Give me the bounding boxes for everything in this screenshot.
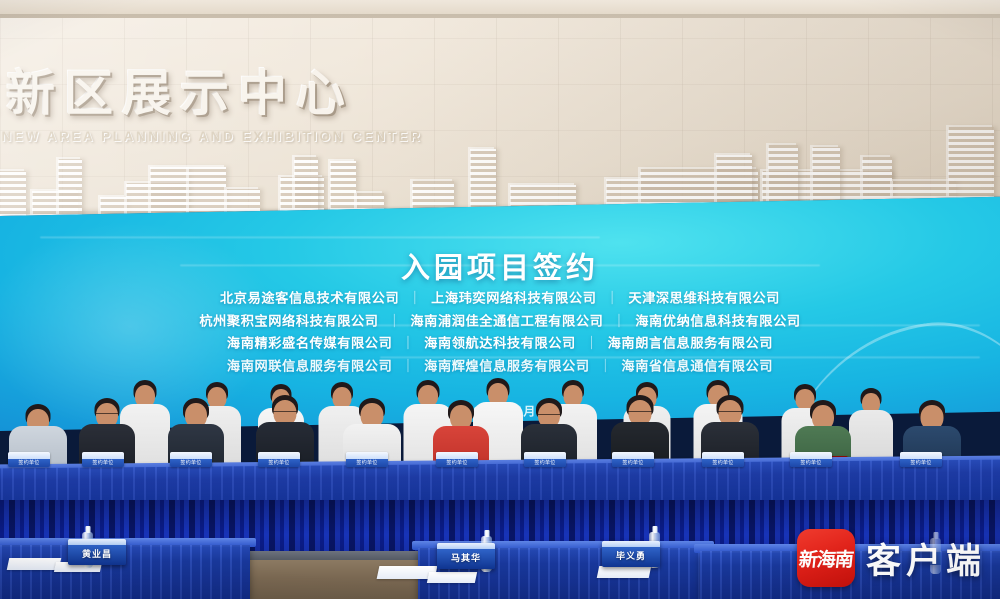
desk-nameplate: 签约单位 xyxy=(8,452,50,467)
document-paper xyxy=(7,558,62,570)
desk-nameplate: 签约单位 xyxy=(436,452,478,467)
desk-nameplate: 签约单位 xyxy=(82,452,124,467)
desk-nameplate-label: 签约单位 xyxy=(346,459,388,466)
foreground-nameplate-label: 黄业昌 xyxy=(68,547,126,560)
company-name: 天津深思维科技有限公司 xyxy=(628,291,780,306)
glasses xyxy=(629,411,652,414)
desk-nameplate: 签约单位 xyxy=(612,452,654,467)
document-paper xyxy=(597,566,652,578)
separator: ｜ xyxy=(379,314,411,329)
desk-nameplate: 签约单位 xyxy=(258,452,300,467)
desk-nameplate: 签约单位 xyxy=(346,452,388,467)
company-name: 海南精彩盛名传媒有限公司 xyxy=(227,336,392,351)
company-row-4: 海南网联信息服务有限公司｜海南辉煌信息服务有限公司｜海南省信息通信有限公司 xyxy=(0,356,1000,379)
separator: ｜ xyxy=(576,336,608,351)
watermark-logo-icon: 新海南 xyxy=(797,529,855,587)
glasses xyxy=(719,411,742,414)
desk-nameplate: 签约单位 xyxy=(702,452,744,467)
separator: ｜ xyxy=(597,291,629,306)
document-paper xyxy=(427,572,477,583)
glasses xyxy=(96,413,118,416)
company-row-3: 海南精彩盛名传媒有限公司｜海南领航达科技有限公司｜海南朗言信息服务有限公司 xyxy=(0,333,1000,356)
separator: ｜ xyxy=(590,359,622,374)
watermark-logo-text: 新海南 xyxy=(798,545,855,572)
watermark: 新海南 客户端 xyxy=(797,529,986,587)
company-name: 杭州聚积宝网络科技有限公司 xyxy=(199,314,378,329)
separator: ｜ xyxy=(392,336,424,351)
photograph: 江东新区展示中心 JIANGDONG NEW AREA PLANNING AND… xyxy=(0,0,1000,599)
glasses xyxy=(538,414,560,417)
separator: ｜ xyxy=(392,359,424,374)
separator: ｜ xyxy=(603,314,635,329)
company-name: 海南辉煌信息服务有限公司 xyxy=(424,359,589,374)
desk-nameplate-label: 签约单位 xyxy=(790,459,832,466)
desk-nameplate-label: 签约单位 xyxy=(258,459,300,466)
company-row-2: 杭州聚积宝网络科技有限公司｜海南浦润佳全通信工程有限公司｜海南优纳信息科技有限公… xyxy=(0,311,1000,334)
desk-nameplate-label: 签约单位 xyxy=(702,459,744,466)
desk-nameplate-label: 签约单位 xyxy=(170,459,212,466)
company-name: 海南领航达科技有限公司 xyxy=(424,336,576,351)
company-name: 海南网联信息服务有限公司 xyxy=(227,359,392,374)
desk-nameplate-label: 签约单位 xyxy=(82,459,124,466)
back-wall: 江东新区展示中心 JIANGDONG NEW AREA PLANNING AND… xyxy=(0,18,1000,223)
company-row-1: 北京易途客信息技术有限公司｜上海玮奕网络科技有限公司｜天津深思维科技有限公司 xyxy=(0,288,1000,311)
foreground-nameplate-label: 毕义勇 xyxy=(602,549,660,562)
foreground-nameplate: 马其华 xyxy=(437,543,495,569)
company-name: 海南朗言信息服务有限公司 xyxy=(608,336,773,351)
company-name: 海南浦润佳全通信工程有限公司 xyxy=(410,314,603,329)
desk-nameplate-label: 签约单位 xyxy=(436,459,478,466)
company-name: 北京易途客信息技术有限公司 xyxy=(220,291,399,306)
company-name: 海南省信息通信有限公司 xyxy=(621,359,773,374)
foreground-nameplate-label: 马其华 xyxy=(437,551,495,564)
screen-streak xyxy=(40,236,600,238)
desk-nameplate-label: 签约单位 xyxy=(524,459,566,466)
watermark-label: 客户端 xyxy=(866,533,986,584)
desk-nameplate: 签约单位 xyxy=(524,452,566,467)
company-name: 海南优纳信息科技有限公司 xyxy=(635,314,800,329)
screen-title: 入园项目签约 xyxy=(0,244,1000,286)
desk-nameplate-label: 签约单位 xyxy=(900,459,942,466)
desk-nameplate-label: 签约单位 xyxy=(612,459,654,466)
desk-nameplate-label: 签约单位 xyxy=(8,459,50,466)
desk-nameplate: 签约单位 xyxy=(900,452,942,467)
wall-lighting-gradient xyxy=(0,18,1000,223)
glasses xyxy=(274,411,297,414)
separator: ｜ xyxy=(399,291,431,306)
foreground-nameplate: 毕义勇 xyxy=(602,541,660,567)
company-list: 北京易途客信息技术有限公司｜上海玮奕网络科技有限公司｜天津深思维科技有限公司 杭… xyxy=(0,288,1000,378)
company-name: 上海玮奕网络科技有限公司 xyxy=(431,291,596,306)
desk-nameplate: 签约单位 xyxy=(170,452,212,467)
foreground-nameplate: 黄业昌 xyxy=(68,539,126,565)
desk-nameplate: 签约单位 xyxy=(790,452,832,467)
